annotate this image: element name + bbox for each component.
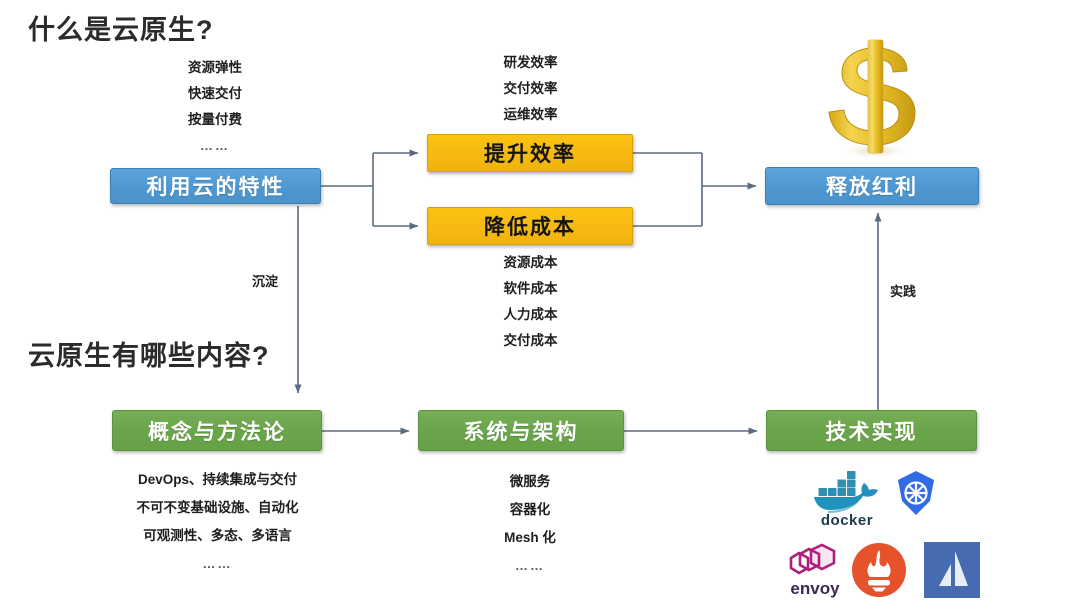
page-title-cloud-native-contents: 云原生有哪些内容? (28, 334, 270, 373)
caption-line: Mesh 化 (440, 524, 620, 552)
caption-line-ellipsis: …… (440, 552, 620, 580)
caption-line: 容器化 (440, 496, 620, 524)
node-system-architecture[interactable]: 系统与架构 (418, 410, 624, 451)
caption-line: 交付效率 (448, 76, 613, 102)
caption-line: 资源弹性 (130, 55, 300, 81)
slide-canvas: 什么是云原生? 云原生有哪些内容? 利用云的特性 提升效率 降低成本 释放红利 (0, 0, 1080, 614)
page-title-what-is-cloud-native: 什么是云原生? (28, 8, 214, 47)
caption-line-ellipsis: …… (75, 550, 360, 578)
caption-line: 快速交付 (130, 81, 300, 107)
node-concepts-methodology[interactable]: 概念与方法论 (112, 410, 322, 451)
istio-logo (924, 542, 980, 598)
caption-line: 资源成本 (448, 250, 613, 276)
kubernetes-logo (893, 470, 939, 516)
svg-text:envoy: envoy (790, 579, 840, 598)
node-cloud-features[interactable]: 利用云的特性 (110, 168, 321, 204)
docker-logo: docker (806, 468, 888, 528)
caption-line-ellipsis: …… (130, 133, 300, 159)
node-release-dividend[interactable]: 释放红利 (765, 167, 979, 205)
prometheus-logo (851, 542, 907, 598)
caption-line: 微服务 (440, 468, 620, 496)
caption-line: 研发效率 (448, 50, 613, 76)
caption-line: DevOps、持续集成与交付 (75, 466, 360, 494)
node-reduce-cost[interactable]: 降低成本 (427, 207, 633, 245)
caption-efficiency-items: 研发效率 交付效率 运维效率 (448, 50, 613, 128)
node-tech-implementation[interactable]: 技术实现 (766, 410, 977, 451)
caption-line: 软件成本 (448, 276, 613, 302)
edge-label-sediment: 沉淀 (252, 271, 278, 290)
caption-line: 交付成本 (448, 328, 613, 354)
caption-concepts-items: DevOps、持续集成与交付 不可不变基础设施、自动化 可观测性、多态、多语言 … (75, 466, 360, 578)
node-boost-efficiency[interactable]: 提升效率 (427, 134, 633, 172)
caption-cloud-features: 资源弹性 快速交付 按量付费 …… (130, 55, 300, 159)
caption-system-architecture-items: 微服务 容器化 Mesh 化 …… (440, 468, 620, 580)
edge-label-practice: 实践 (890, 281, 916, 300)
caption-line: 按量付费 (130, 107, 300, 133)
caption-line: 可观测性、多态、多语言 (75, 522, 360, 550)
dollar-sign-icon (823, 38, 927, 160)
svg-text:docker: docker (821, 512, 873, 528)
caption-line: 不可不变基础设施、自动化 (75, 494, 360, 522)
caption-cost-items: 资源成本 软件成本 人力成本 交付成本 (448, 250, 613, 354)
caption-line: 运维效率 (448, 102, 613, 128)
envoy-logo: envoy (778, 538, 852, 600)
caption-line: 人力成本 (448, 302, 613, 328)
